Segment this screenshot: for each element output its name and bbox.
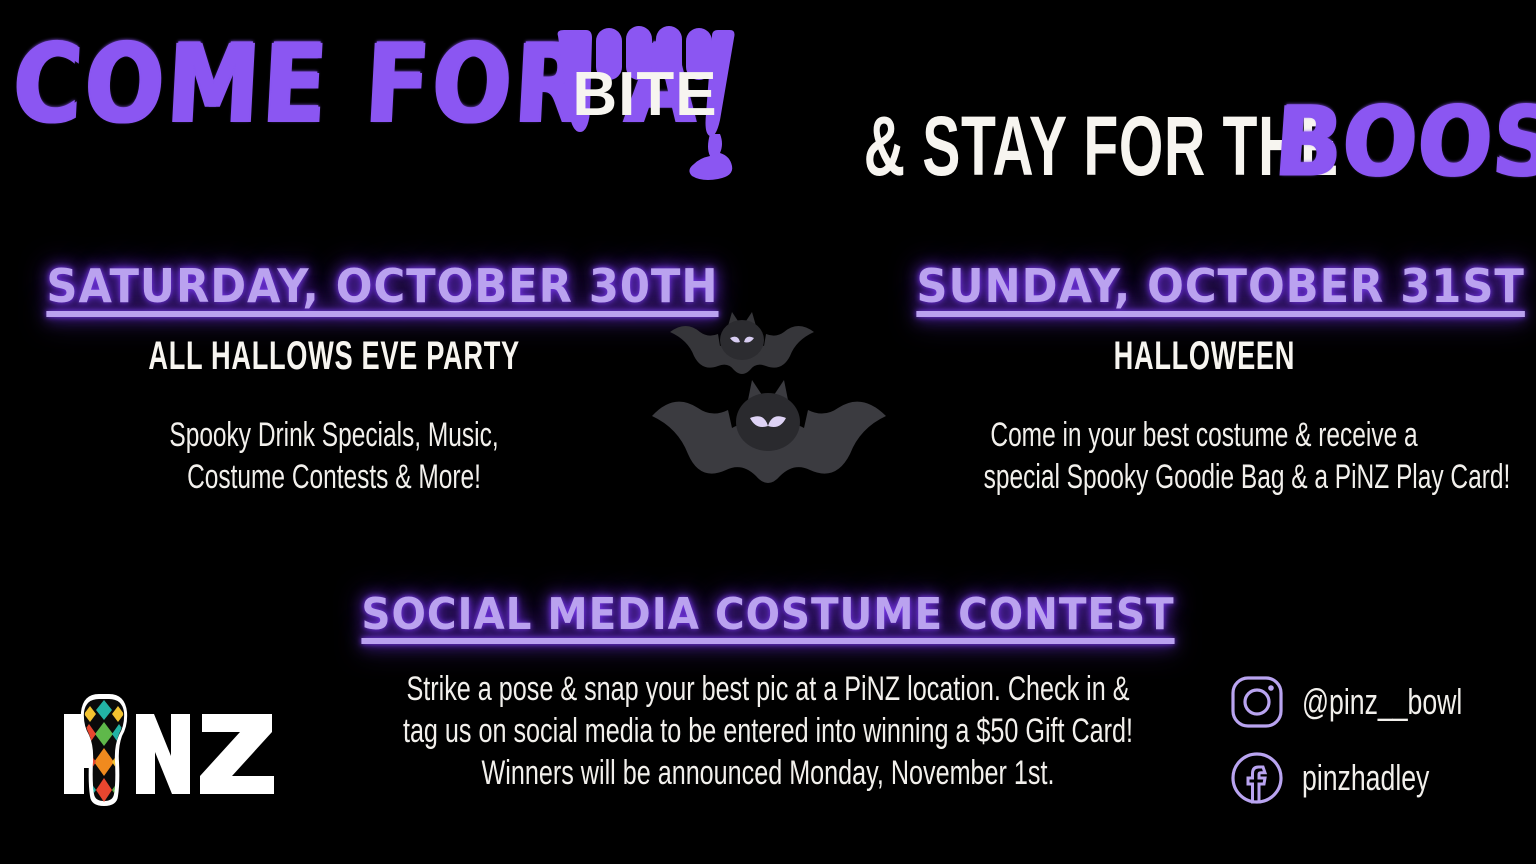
social-row-instagram[interactable]: @pinz__bowl: [1228, 664, 1528, 740]
social-row-facebook[interactable]: pinzhadley: [1228, 740, 1528, 816]
facebook-handle-text: pinzhadley: [1302, 758, 1429, 798]
saturday-details: Spooky Drink Specials, Music, Costume Co…: [28, 414, 640, 498]
instagram-icon[interactable]: [1228, 673, 1286, 731]
facebook-handle: pinzhadley: [1302, 758, 1474, 798]
contest-line-2: tag us on social media to be entered int…: [398, 710, 1138, 752]
facebook-icon[interactable]: [1228, 749, 1286, 807]
saturday-detail-line-2: Costume Contests & More!: [114, 456, 555, 498]
contest-heading: SOCIAL MEDIA COSTUME CONTEST: [308, 588, 1228, 642]
bat-large: [652, 380, 886, 483]
sunday-event-text: HALLOWEEN: [1113, 332, 1294, 380]
pinz-logo: [62, 690, 277, 810]
headline-stay-text: & STAY FOR THE: [864, 104, 1339, 188]
bite-word: BITE: [552, 64, 738, 126]
bats-decoration: [648, 300, 892, 502]
sunday-date-heading: SUNDAY, OCTOBER 31ST: [916, 258, 1491, 314]
saturday-detail-line-1: Spooky Drink Specials, Music,: [114, 414, 555, 456]
saturday-event-text: ALL HALLOWS EVE PARTY: [148, 332, 519, 380]
headline-boos: BOOS: [1272, 86, 1536, 198]
sunday-details: Come in your best costume & receive a sp…: [898, 414, 1510, 498]
instagram-handle: @pinz__bowl: [1302, 682, 1519, 722]
contest-line-3: Winners will be announced Monday, Novemb…: [398, 752, 1138, 794]
headline-band: COME FOR A BITE & STAY FOR THE BOOS: [0, 0, 1536, 210]
social-media-contest-block: SOCIAL MEDIA COSTUME CONTEST Strike a po…: [268, 588, 1268, 794]
saturday-event-title: ALL HALLOWS EVE PARTY: [28, 332, 640, 380]
logo-letter-z: [200, 714, 274, 794]
sunday-detail-line-1: Come in your best costume & receive a: [984, 414, 1425, 456]
saturday-date-heading: SATURDAY, OCTOBER 30TH: [46, 258, 621, 314]
contest-body: Strike a pose & snap your best pic at a …: [268, 668, 1268, 794]
sunday-detail-line-2: special Spooky Goodie Bag & a PiNZ Play …: [984, 456, 1425, 498]
day-column-sunday: SUNDAY, OCTOBER 31ST HALLOWEEN Come in y…: [898, 258, 1510, 498]
contest-line-1: Strike a pose & snap your best pic at a …: [398, 668, 1138, 710]
sunday-event-title: HALLOWEEN: [898, 332, 1510, 380]
vampire-fangs-icon: BITE: [552, 16, 738, 188]
bats-svg: [648, 300, 892, 502]
social-handles: @pinz__bowl pinzhadley: [1228, 664, 1528, 816]
day-column-saturday: SATURDAY, OCTOBER 30TH ALL HALLOWS EVE P…: [28, 258, 640, 498]
bat-small: [670, 312, 814, 374]
logo-letter-n: [136, 714, 190, 794]
headline-come-for-a: COME FOR A: [10, 16, 557, 152]
pinz-logo-svg: [62, 690, 277, 810]
instagram-handle-text: @pinz__bowl: [1302, 682, 1462, 722]
